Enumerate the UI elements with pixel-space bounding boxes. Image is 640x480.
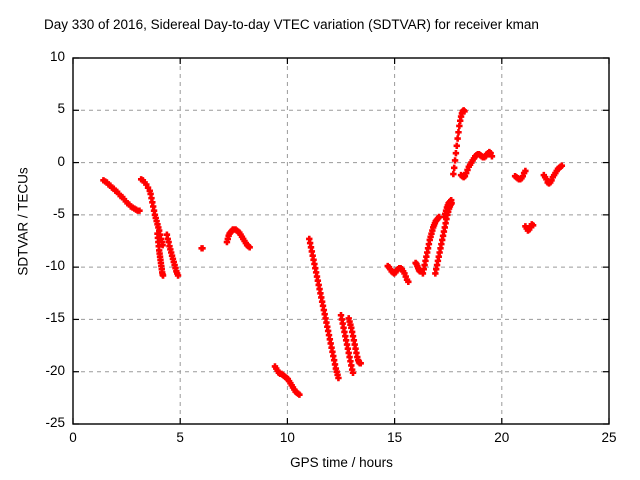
chart-canvas: Day 330 of 2016, Sidereal Day-to-day VTE… [0, 0, 640, 480]
grid-lines [73, 58, 609, 424]
plot-frame [73, 58, 609, 424]
scatter-plot-area [0, 0, 640, 480]
data-point-markers [100, 107, 565, 398]
axis-ticks [73, 58, 609, 424]
